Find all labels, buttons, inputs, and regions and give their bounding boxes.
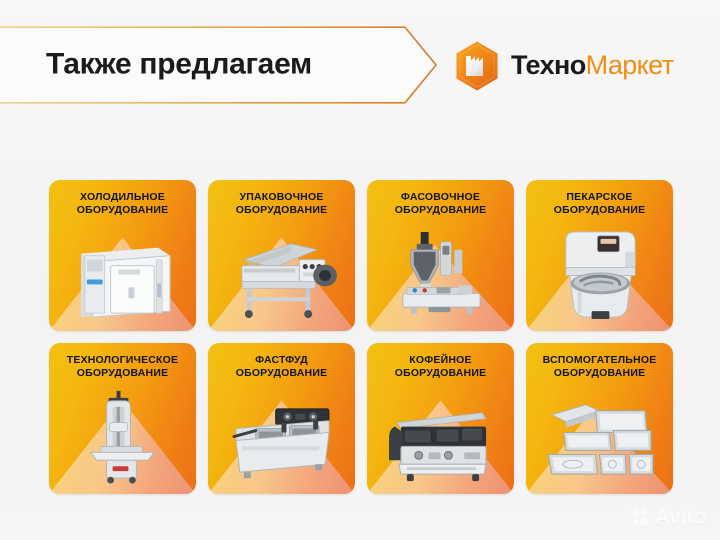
cold-room-icon [55, 226, 190, 325]
category-tile-fastfood[interactable]: ФАСТФУД ОБОРУДОВАНИЕ [208, 343, 355, 494]
tile-product-image [532, 389, 667, 488]
tile-label-line1: ХОЛОДИЛЬНОЕ [54, 191, 191, 204]
tile-product-image [532, 226, 667, 325]
brand-name-dark: Техно [511, 50, 586, 80]
brand-logo: ТехноМаркет [452, 40, 673, 92]
tile-label-line1: УПАКОВОЧНОЕ [213, 191, 350, 204]
tile-label-line2: ОБОРУДОВАНИЕ [531, 367, 668, 380]
brand-name-accent: Маркет [586, 50, 674, 80]
tile-product-image [373, 226, 508, 325]
tile-label-line2: ОБОРУДОВАНИЕ [54, 204, 191, 217]
tile-label-line2: ОБОРУДОВАНИЕ [54, 367, 191, 380]
band-saw-icon [55, 389, 190, 488]
tile-label: ФАСОВОЧНОЕ ОБОРУДОВАНИЕ [372, 191, 509, 218]
avito-watermark-text: Avito [654, 506, 706, 528]
deep-fryer-icon [214, 389, 349, 488]
tile-product-image [214, 389, 349, 488]
tile-label-line2: ОБОРУДОВАНИЕ [213, 367, 350, 380]
gastronorm-pans-icon [532, 389, 667, 488]
avito-dots-icon [630, 507, 650, 527]
tile-label: ХОЛОДИЛЬНОЕ ОБОРУДОВАНИЕ [54, 191, 191, 218]
category-tile-grid: ХОЛОДИЛЬНОЕ ОБОРУДОВАНИЕ [49, 180, 673, 494]
tile-product-image [55, 389, 190, 488]
hexagon-factory-icon [452, 40, 502, 92]
tile-product-image [55, 226, 190, 325]
header-banner: Также предлагаем [0, 26, 440, 104]
category-tile-coffee[interactable]: КОФЕЙНОЕ ОБОРУДОВАНИЕ [367, 343, 514, 494]
tile-label-line2: ОБОРУДОВАНИЕ [531, 204, 668, 217]
tile-label: ПЕКАРСКОЕ ОБОРУДОВАНИЕ [531, 191, 668, 218]
category-tile-refrigeration[interactable]: ХОЛОДИЛЬНОЕ ОБОРУДОВАНИЕ [49, 180, 196, 331]
filling-machine-icon [373, 226, 508, 325]
tile-label: ВСПОМОГАТЕЛЬНОЕ ОБОРУДОВАНИЕ [531, 354, 668, 381]
tile-label: ТЕХНОЛОГИЧЕСКОЕ ОБОРУДОВАНИЕ [54, 354, 191, 381]
tile-label-line1: ВСПОМОГАТЕЛЬНОЕ [531, 354, 668, 367]
shrink-wrap-machine-icon [214, 226, 349, 325]
category-tile-processing[interactable]: ТЕХНОЛОГИЧЕСКОЕ ОБОРУДОВАНИЕ [49, 343, 196, 494]
espresso-machine-icon [373, 389, 508, 488]
tile-label: ФАСТФУД ОБОРУДОВАНИЕ [213, 354, 350, 381]
promo-page: Также предлагаем Т [0, 0, 720, 540]
tile-label-line1: КОФЕЙНОЕ [372, 354, 509, 367]
tile-label-line2: ОБОРУДОВАНИЕ [372, 204, 509, 217]
tile-product-image [373, 389, 508, 488]
tile-label-line1: ТЕХНОЛОГИЧЕСКОЕ [54, 354, 191, 367]
brand-wordmark: ТехноМаркет [511, 52, 673, 81]
tile-label: КОФЕЙНОЕ ОБОРУДОВАНИЕ [372, 354, 509, 381]
category-tile-auxiliary[interactable]: ВСПОМОГАТЕЛЬНОЕ ОБОРУДОВАНИЕ [526, 343, 673, 494]
category-tile-bakery[interactable]: ПЕКАРСКОЕ ОБОРУДОВАНИЕ [526, 180, 673, 331]
tile-label: УПАКОВОЧНОЕ ОБОРУДОВАНИЕ [213, 191, 350, 218]
tile-label-line2: ОБОРУДОВАНИЕ [372, 367, 509, 380]
tile-label-line1: ПЕКАРСКОЕ [531, 191, 668, 204]
tile-product-image [214, 226, 349, 325]
page-title: Также предлагаем [46, 47, 312, 81]
category-tile-filling[interactable]: ФАСОВОЧНОЕ ОБОРУДОВАНИЕ [367, 180, 514, 331]
avito-watermark: Avito [630, 506, 706, 528]
tile-label-line2: ОБОРУДОВАНИЕ [213, 204, 350, 217]
spiral-dough-mixer-icon [532, 226, 667, 325]
category-tile-packaging[interactable]: УПАКОВОЧНОЕ ОБОРУДОВАНИЕ [208, 180, 355, 331]
tile-label-line1: ФАСОВОЧНОЕ [372, 191, 509, 204]
tile-label-line1: ФАСТФУД [213, 354, 350, 367]
